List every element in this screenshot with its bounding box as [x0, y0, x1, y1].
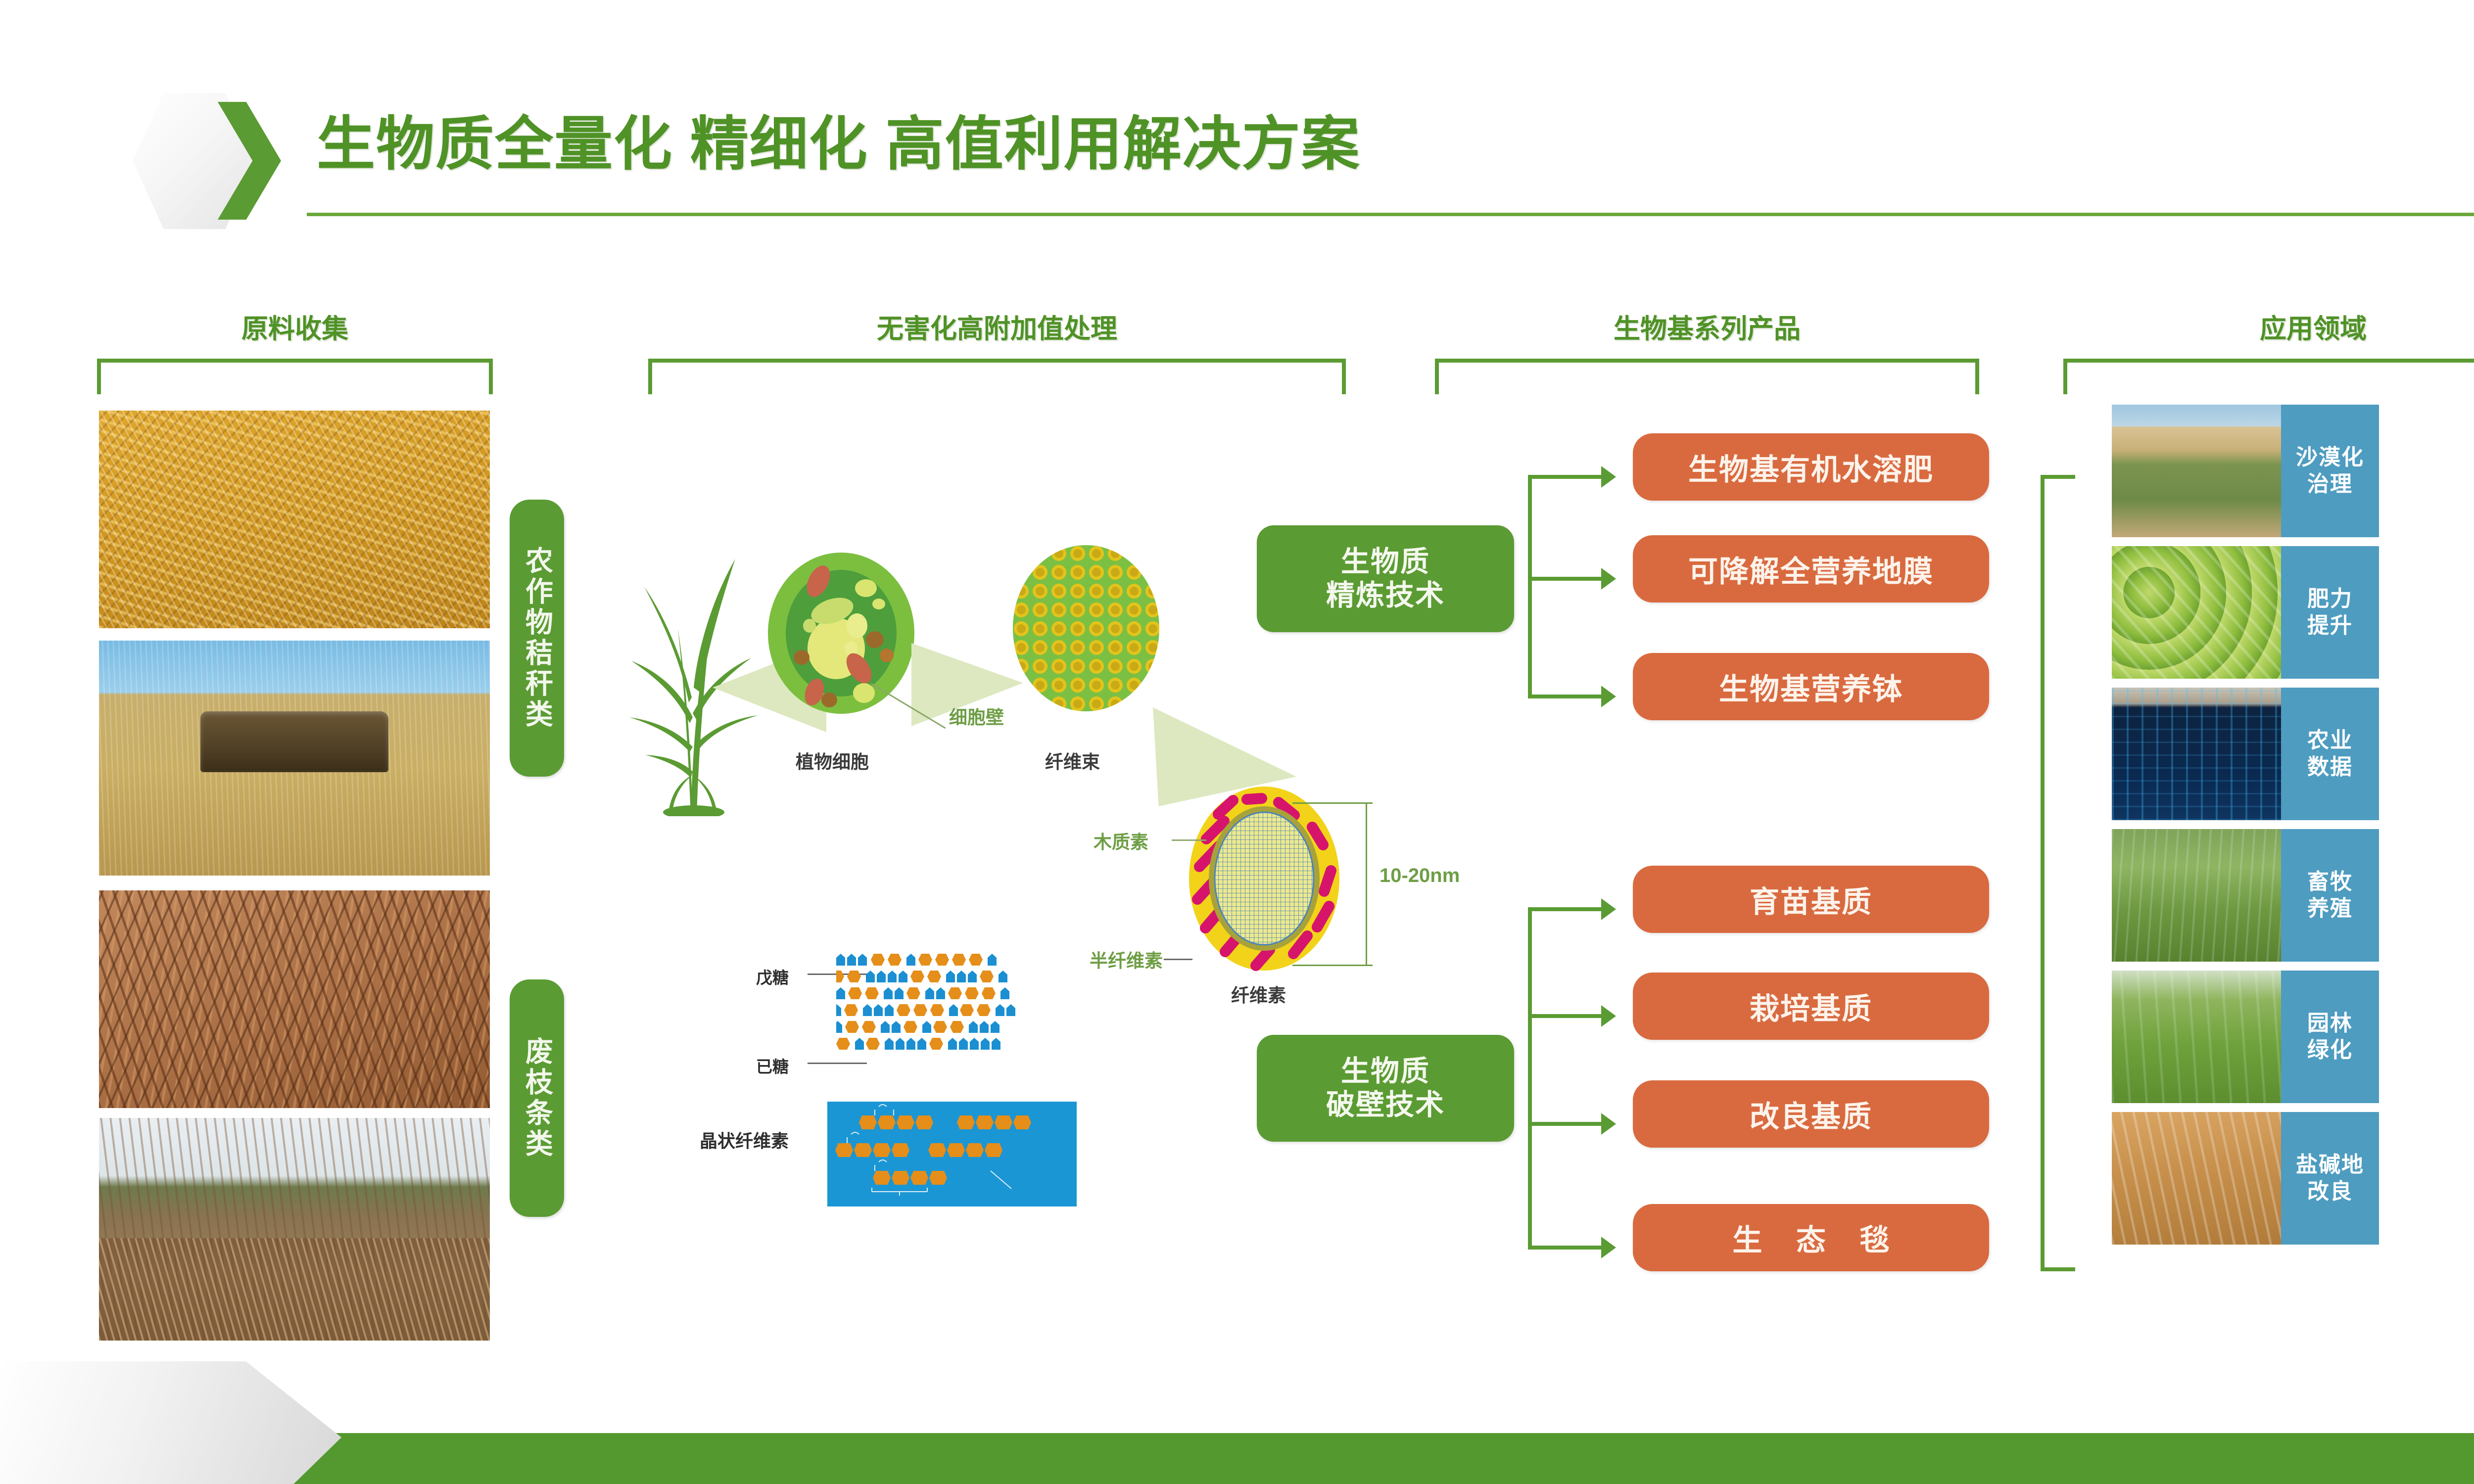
product-pill-biodegradable-mulch-film[interactable]: 可降解全营养地膜	[1633, 535, 1989, 603]
application-chip-line2: 治理	[2307, 471, 2353, 498]
application-chip-line1: 农业	[2307, 727, 2353, 754]
title-underline-divider	[307, 213, 2474, 216]
tech-pill-line2: 破壁技术	[1326, 1088, 1445, 1122]
application-chip-line2: 绿化	[2307, 1037, 2353, 1064]
photo-desert-control	[2112, 405, 2281, 537]
dimension-tick-top	[1292, 802, 1373, 804]
label-dimension: 10-20nm	[1380, 865, 1460, 887]
label-pentose: 戊糖	[756, 965, 789, 988]
lignin-leader-line	[1172, 839, 1206, 841]
label-hexose: 已糖	[756, 1054, 789, 1077]
fiber-cross-section-illustration	[1183, 782, 1346, 974]
arrow-wallbreak-1	[1601, 898, 1616, 920]
application-row-desert[interactable]: 沙漠化 治理	[2112, 405, 2379, 537]
tech-pill-line2: 精炼技术	[1326, 579, 1445, 612]
label-fiber-bundle: 纤维束	[1045, 747, 1100, 774]
connector-wallbreak-vertical	[1528, 907, 1532, 1250]
application-chip-line1: 沙漠化	[2296, 444, 2364, 471]
column-header-processing: 无害化高附加值处理	[648, 307, 1346, 394]
connector-wallbreak-branch-2	[1528, 1014, 1602, 1018]
bracket-processing	[648, 359, 1346, 394]
column-header-label: 生物基系列产品	[1435, 307, 1979, 346]
connector-refining-branch-3	[1528, 695, 1602, 698]
tech-pill-refining[interactable]: 生物质 精炼技术	[1257, 525, 1514, 632]
bracket-applications-left	[2041, 475, 2075, 1271]
connector-refining-branch-2	[1528, 577, 1602, 581]
arrow-refining-3	[1601, 686, 1616, 707]
label-hemicellulose: 半纤维素	[1090, 946, 1163, 973]
photo-straw-bale-field	[99, 641, 490, 876]
application-row-saline-land[interactable]: 盐碱地 改良	[2112, 1112, 2379, 1245]
arrow-wallbreak-2	[1601, 1005, 1616, 1027]
dimension-tick-bottom	[1292, 965, 1373, 966]
fiber-bundle-illustration	[1012, 544, 1160, 712]
bracket-applications	[2063, 359, 2474, 394]
product-pill-ecological-blanket[interactable]: 生 态 毯	[1633, 1204, 1989, 1271]
application-chip-desert-control[interactable]: 沙漠化 治理	[2281, 405, 2379, 537]
column-header-label: 应用领域	[2063, 307, 2474, 346]
photo-landscape-greening	[2112, 971, 2281, 1103]
application-chip-line1: 盐碱地	[2296, 1152, 2364, 1178]
application-row-livestock[interactable]: 畜牧 养殖	[2112, 829, 2379, 962]
application-row-landscaping[interactable]: 园林 绿化	[2112, 971, 2379, 1103]
dimension-vertical-line	[1366, 802, 1367, 966]
hemicellulose-leader-line	[1164, 959, 1192, 960]
photo-corn-stalks	[99, 411, 490, 628]
label-plant-cell: 植物细胞	[796, 747, 869, 774]
application-chip-line2: 改良	[2307, 1178, 2353, 1205]
column-header-raw-materials: 原料收集	[97, 307, 493, 394]
application-chip-line2: 数据	[2307, 754, 2353, 781]
column-header-label: 无害化高附加值处理	[648, 307, 1346, 346]
bracket-raw-materials	[97, 359, 493, 394]
photo-orchard-pruning	[99, 1118, 490, 1341]
product-pill-seedling-substrate[interactable]: 育苗基质	[1633, 866, 1989, 933]
arrow-refining-1	[1601, 466, 1616, 488]
application-chip-line2: 养殖	[2307, 895, 2353, 922]
application-chip-landscaping[interactable]: 园林 绿化	[2281, 971, 2379, 1103]
photo-saline-land	[2112, 1112, 2281, 1245]
material-tag-waste-branches: 废枝条类	[510, 979, 564, 1217]
connector-refining-vertical	[1528, 475, 1532, 698]
label-lignin: 木质素	[1094, 827, 1148, 854]
column-header-products: 生物基系列产品	[1435, 307, 1979, 394]
application-chip-livestock[interactable]: 畜牧 养殖	[2281, 829, 2379, 962]
photo-cabbage-field	[2112, 546, 2281, 679]
tech-pill-line1: 生物质	[1341, 545, 1430, 579]
infographic-slide: 生物质全量化 精细化 高值利用解决方案 原料收集 无害化高附加值处理 生物基系列…	[0, 0, 2474, 1484]
bracket-products	[1435, 359, 1979, 394]
crystalline-cellulose-illustration	[827, 1102, 1077, 1206]
product-pill-water-soluble-fertilizer[interactable]: 生物基有机水溶肥	[1633, 433, 1989, 501]
page-title: 生物质全量化 精细化 高值利用解决方案	[317, 96, 1361, 181]
hexagon-badge-icon	[133, 89, 281, 232]
label-cellulose: 纤维素	[1231, 980, 1286, 1007]
connector-wallbreak-branch-1	[1528, 907, 1602, 911]
arrow-refining-2	[1601, 568, 1616, 590]
sugar-chain-illustration	[836, 954, 1094, 1077]
application-chip-line1: 肥力	[2307, 586, 2353, 612]
tech-pill-wall-breaking[interactable]: 生物质 破壁技术	[1257, 1035, 1514, 1142]
label-cell-wall: 细胞壁	[949, 702, 1004, 729]
connector-refining-branch-1	[1528, 475, 1602, 479]
application-chip-saline-land[interactable]: 盐碱地 改良	[2281, 1112, 2379, 1245]
connector-wallbreak-branch-3	[1528, 1122, 1602, 1126]
arrow-wallbreak-3	[1601, 1113, 1616, 1135]
photo-grazing-sheep	[2112, 829, 2281, 962]
footer-bar	[0, 1433, 2474, 1484]
connector-wallbreak-branch-4	[1528, 1246, 1602, 1250]
application-chip-fertility[interactable]: 肥力 提升	[2281, 546, 2379, 679]
application-chip-line2: 提升	[2307, 612, 2353, 639]
footer-wedge-decoration	[0, 1361, 341, 1484]
column-header-applications: 应用领域	[2063, 307, 2474, 394]
tech-pill-line1: 生物质	[1341, 1055, 1430, 1088]
application-chip-line1: 畜牧	[2307, 869, 2353, 895]
material-tag-crop-straw: 农作物秸秆类	[510, 500, 564, 777]
product-pill-nutrient-pot[interactable]: 生物基营养钵	[1633, 653, 1989, 720]
photo-dry-branches	[99, 890, 490, 1108]
application-row-fertility[interactable]: 肥力 提升	[2112, 546, 2379, 679]
application-chip-agri-data[interactable]: 农业 数据	[2281, 688, 2379, 820]
product-pill-cultivation-substrate[interactable]: 栽培基质	[1633, 973, 1989, 1040]
arrow-wallbreak-4	[1601, 1237, 1616, 1258]
column-header-label: 原料收集	[97, 307, 493, 346]
application-row-agri-data[interactable]: 农业 数据	[2112, 688, 2379, 820]
plant-cell-illustration	[767, 552, 915, 715]
application-chip-line1: 园林	[2307, 1010, 2353, 1037]
product-pill-improvement-substrate[interactable]: 改良基质	[1633, 1080, 1989, 1148]
label-crystalline-cellulose: 晶状纤维素	[700, 1127, 789, 1153]
photo-data-center	[2112, 688, 2281, 820]
